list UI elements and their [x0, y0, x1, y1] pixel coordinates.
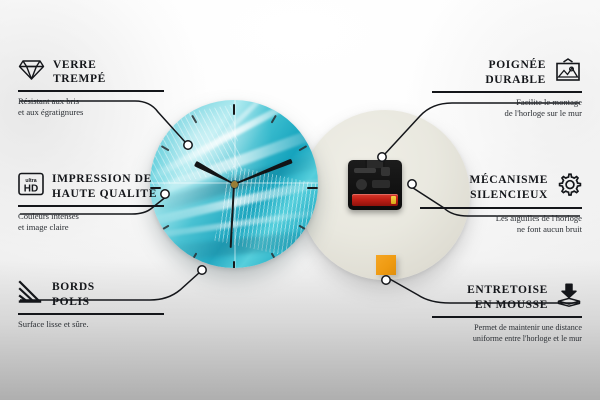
callout-mecanisme-silencieux[interactable]: MÉCANISME SILENCIEUX Les aiguilles de l'… — [420, 172, 582, 236]
mechanism-detail — [356, 179, 367, 190]
callout-rule — [18, 205, 164, 207]
callout-title: ENTRETOISE EN MOUSSE — [467, 283, 548, 311]
callout-title: VERRE TREMPÉ — [53, 58, 106, 86]
callout-entretoise-en-mousse[interactable]: ENTRETOISE EN MOUSSE Permet de maintenir… — [432, 283, 582, 344]
callout-title: POIGNÉE DURABLE — [485, 58, 546, 86]
callout-rule — [432, 316, 582, 318]
battery — [352, 194, 398, 206]
gear-icon — [556, 172, 582, 203]
callout-subtitle: Surface lisse et sûre. — [18, 319, 168, 331]
callout-poignee-durable[interactable]: POIGNÉE DURABLE Facilite le montage de l… — [432, 58, 582, 120]
callout-subtitle: Couleurs intenses et image claire — [18, 211, 168, 235]
callout-subtitle: Résistant aux bris et aux égratignures — [18, 96, 168, 120]
picture-hanger-icon — [554, 58, 582, 87]
polished-edge-icon — [18, 280, 44, 309]
callout-rule — [18, 90, 164, 92]
foam-spacer-icon — [556, 283, 582, 312]
mechanism-detail — [372, 180, 390, 188]
callout-rule — [420, 207, 582, 209]
diamond-icon — [18, 58, 45, 86]
foam-spacer — [376, 255, 396, 275]
callout-rule — [18, 313, 164, 315]
clock-front-view — [150, 100, 318, 268]
callout-subtitle: Les aiguilles de l'horloge ne font aucun… — [420, 213, 582, 237]
svg-text:HD: HD — [24, 184, 38, 195]
callout-subtitle: Facilite le montage de l'horloge sur le … — [432, 97, 582, 121]
clock-mechanism — [348, 160, 402, 210]
callout-bords-polis[interactable]: BORDS POLIS Surface lisse et sûre. — [18, 280, 168, 330]
callout-rule — [432, 91, 582, 93]
callout-title: BORDS POLIS — [52, 280, 95, 308]
callout-title: IMPRESSION DE HAUTE QUALITÉ — [52, 172, 157, 200]
ultra-hd-icon: ultra HD — [18, 172, 44, 201]
callout-subtitle: Permet de maintenir une distance uniform… — [432, 322, 582, 344]
callout-title: MÉCANISME SILENCIEUX — [469, 173, 548, 201]
mechanism-detail — [354, 168, 376, 173]
mechanism-detail — [381, 167, 390, 176]
callout-impression-haute-qualite[interactable]: ultra HD IMPRESSION DE HAUTE QUALITÉ Cou… — [18, 172, 168, 234]
infographic-canvas: VERRE TREMPÉ Résistant aux bris et aux é… — [0, 0, 600, 400]
callout-verre-trempe[interactable]: VERRE TREMPÉ Résistant aux bris et aux é… — [18, 58, 168, 119]
clock-center-hub — [231, 181, 238, 188]
